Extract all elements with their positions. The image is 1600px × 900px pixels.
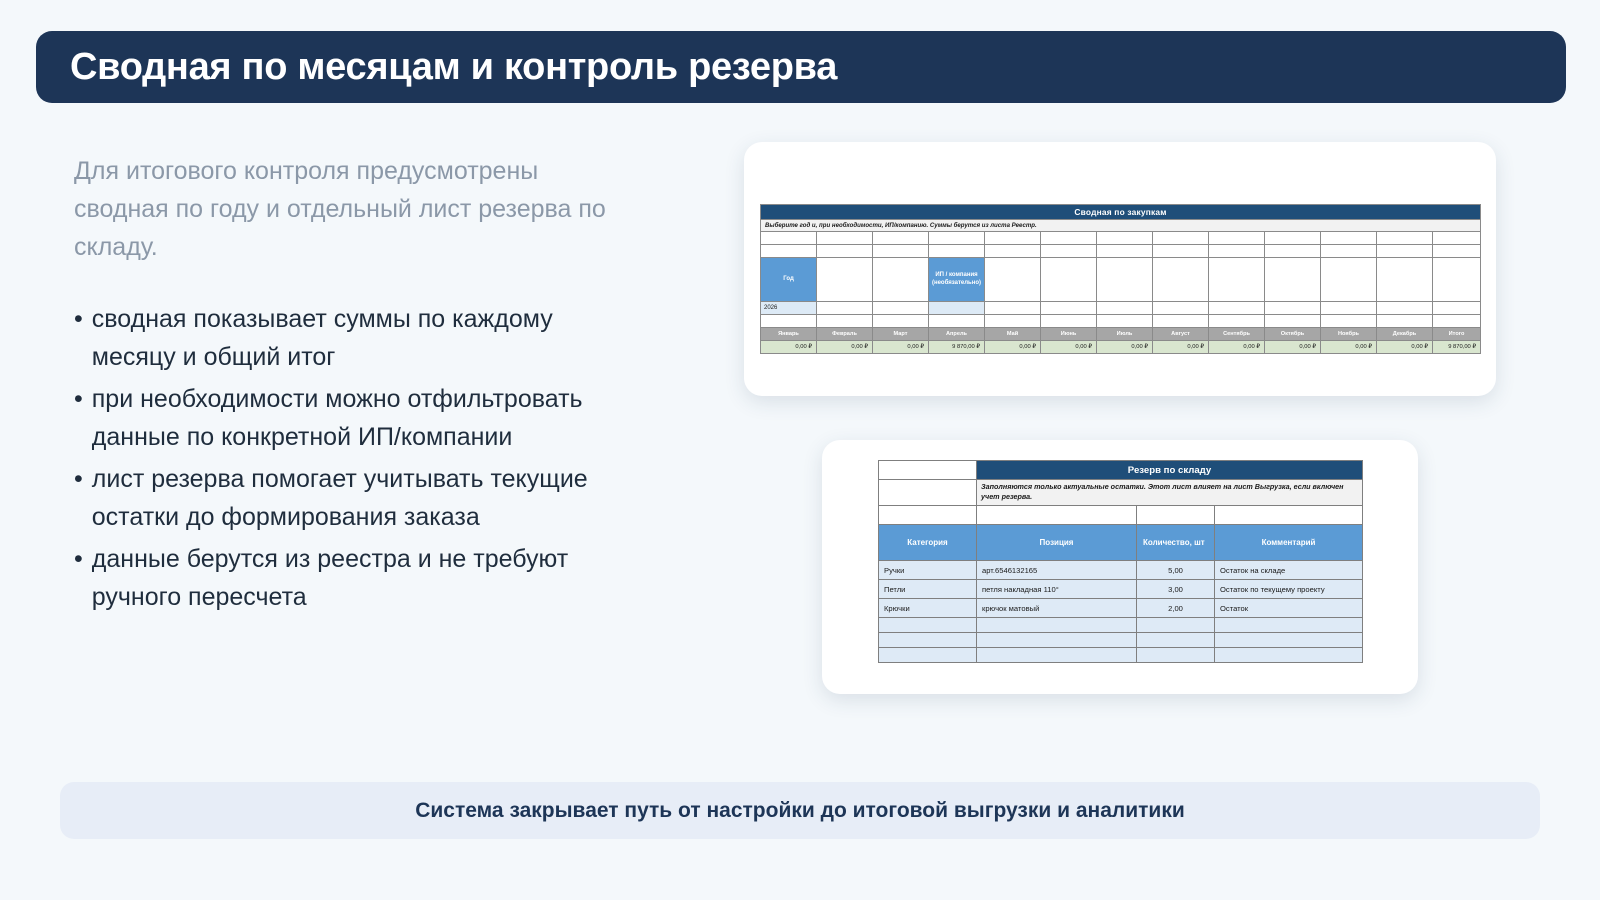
table-row: Выберите год и, при необходимости, ИП/ко… (761, 220, 1481, 232)
bullet-marker-icon: • (74, 300, 83, 376)
cell (1215, 648, 1363, 663)
table-row-header: Категория Позиция Количество, шт Коммент… (879, 525, 1363, 561)
cell (1321, 258, 1377, 302)
reserve-spreadsheet: Резерв по складу Заполняются только акту… (878, 460, 1363, 663)
cell (1321, 302, 1377, 315)
cell (1377, 315, 1433, 328)
table-row-empty (879, 648, 1363, 663)
title-bar: Сводная по месяцам и контроль резерва (36, 31, 1566, 103)
cell (1209, 232, 1265, 245)
month-value: 0,00 ₽ (1209, 341, 1265, 354)
column-header-category: Категория (879, 525, 977, 561)
cell (1209, 258, 1265, 302)
reserve-screenshot-card: Резерв по складу Заполняются только акту… (822, 440, 1418, 694)
cell (1321, 315, 1377, 328)
cell-category: Петли (879, 580, 977, 599)
month-header: Апрель (929, 328, 985, 341)
cell (977, 648, 1137, 663)
cell-quantity: 2,00 (1137, 599, 1215, 618)
cell (929, 245, 985, 258)
list-item: • сводная показывает суммы по каждому ме… (74, 300, 634, 376)
cell (1265, 245, 1321, 258)
list-item-label: лист резерва помогает учитывать текущие … (92, 460, 634, 536)
left-content-column: Для итогового контроля предусмотрены сво… (74, 152, 674, 620)
bullet-marker-icon: • (74, 380, 83, 456)
month-value: 0,00 ₽ (1097, 341, 1153, 354)
footer-label: Система закрывает путь от настройки до и… (415, 799, 1185, 823)
cell (1097, 315, 1153, 328)
column-header-quantity: Количество, шт (1137, 525, 1215, 561)
cell (873, 245, 929, 258)
cell (1433, 245, 1481, 258)
reserve-sheet-title: Резерв по складу (977, 461, 1363, 480)
cell (1041, 245, 1097, 258)
bullet-list: • сводная показывает суммы по каждому ме… (74, 300, 674, 616)
cell (1215, 506, 1363, 525)
cell (1215, 618, 1363, 633)
bullet-marker-icon: • (74, 460, 83, 536)
cell (1137, 633, 1215, 648)
cell (1265, 258, 1321, 302)
cell (1097, 302, 1153, 315)
cell (1041, 232, 1097, 245)
month-value: 0,00 ₽ (817, 341, 873, 354)
month-value: 0,00 ₽ (1377, 341, 1433, 354)
month-value: 0,00 ₽ (1321, 341, 1377, 354)
table-row (761, 232, 1481, 245)
cell (873, 258, 929, 302)
cell (985, 245, 1041, 258)
table-row: Резерв по складу (879, 461, 1363, 480)
cell (1153, 315, 1209, 328)
footer-banner: Система закрывает путь от настройки до и… (60, 782, 1540, 839)
cell (1153, 302, 1209, 315)
company-input[interactable] (929, 302, 985, 315)
cell (761, 315, 817, 328)
cell (1137, 618, 1215, 633)
cell (879, 506, 977, 525)
reserve-sheet-note: Заполняются только актуальные остатки. Э… (977, 480, 1363, 506)
cell (1377, 245, 1433, 258)
summary-sheet-note: Выберите год и, при необходимости, ИП/ко… (761, 220, 1481, 232)
cell (1041, 258, 1097, 302)
cell (873, 315, 929, 328)
cell-quantity: 3,00 (1137, 580, 1215, 599)
cell (1209, 245, 1265, 258)
cell (1097, 245, 1153, 258)
cell (985, 232, 1041, 245)
cell (977, 633, 1137, 648)
cell (1097, 258, 1153, 302)
cell-category: Ручки (879, 561, 977, 580)
table-row: Заполняются только актуальные остатки. Э… (879, 480, 1363, 506)
cell (879, 648, 977, 663)
month-value: 0,00 ₽ (1265, 341, 1321, 354)
table-row: Крючки крючок матовый 2,00 Остаток (879, 599, 1363, 618)
bullet-marker-icon: • (74, 540, 83, 616)
cell (873, 302, 929, 315)
list-item-label: данные берутся из реестра и не требуют р… (92, 540, 634, 616)
month-value: 9 870,00 ₽ (929, 341, 985, 354)
cell-position: арт.6546132165 (977, 561, 1137, 580)
cell-quantity: 5,00 (1137, 561, 1215, 580)
cell (1153, 245, 1209, 258)
table-row-month-values: 0,00 ₽ 0,00 ₽ 0,00 ₽ 9 870,00 ₽ 0,00 ₽ 0… (761, 341, 1481, 354)
summary-screenshot-card: Сводная по закупкам Выберите год и, при … (744, 142, 1496, 396)
cell (879, 633, 977, 648)
month-header: Ноябрь (1321, 328, 1377, 341)
cell-comment: Остаток (1215, 599, 1363, 618)
table-row (761, 315, 1481, 328)
cell (817, 232, 873, 245)
cell (873, 232, 929, 245)
table-row: Петли петля накладная 110° 3,00 Остаток … (879, 580, 1363, 599)
month-header: Август (1153, 328, 1209, 341)
year-header: Год (761, 258, 817, 302)
cell (1265, 315, 1321, 328)
total-header: Итого (1433, 328, 1481, 341)
cell-comment: Остаток по текущему проекту (1215, 580, 1363, 599)
cell (1433, 302, 1481, 315)
cell (1321, 232, 1377, 245)
cell (1377, 232, 1433, 245)
summary-spreadsheet: Сводная по закупкам Выберите год и, при … (760, 204, 1481, 354)
slide-root: Сводная по месяцам и контроль резерва Дл… (0, 0, 1600, 900)
list-item: • при необходимости можно отфильтровать … (74, 380, 634, 456)
table-row (879, 506, 1363, 525)
cell (879, 480, 977, 506)
month-header: Май (985, 328, 1041, 341)
cell (879, 461, 977, 480)
list-item: • лист резерва помогает учитывать текущи… (74, 460, 634, 536)
cell (817, 245, 873, 258)
column-header-position: Позиция (977, 525, 1137, 561)
cell (1215, 633, 1363, 648)
list-item-label: при необходимости можно отфильтровать да… (92, 380, 634, 456)
total-value: 9 870,00 ₽ (1433, 341, 1481, 354)
table-row: Ручки арт.6546132165 5,00 Остаток на скл… (879, 561, 1363, 580)
cell (1209, 302, 1265, 315)
cell (1209, 315, 1265, 328)
intro-paragraph: Для итогового контроля предусмотрены сво… (74, 152, 634, 266)
cell (817, 302, 873, 315)
month-value: 0,00 ₽ (1041, 341, 1097, 354)
list-item-label: сводная показывает суммы по каждому меся… (92, 300, 634, 376)
company-header: ИП / компания (необязательно) (929, 258, 985, 302)
table-row: Сводная по закупкам (761, 205, 1481, 220)
cell-category: Крючки (879, 599, 977, 618)
month-header: Октябрь (1265, 328, 1321, 341)
cell-position: петля накладная 110° (977, 580, 1137, 599)
cell (1041, 302, 1097, 315)
cell (1433, 315, 1481, 328)
table-row (761, 245, 1481, 258)
page-title: Сводная по месяцам и контроль резерва (36, 46, 837, 89)
month-header: Декабрь (1377, 328, 1433, 341)
cell (1433, 232, 1481, 245)
cell (929, 315, 985, 328)
month-header: Март (873, 328, 929, 341)
table-row-month-headers: Январь Февраль Март Апрель Май Июнь Июль… (761, 328, 1481, 341)
cell (1265, 302, 1321, 315)
cell (1265, 232, 1321, 245)
cell (1137, 648, 1215, 663)
list-item: • данные берутся из реестра и не требуют… (74, 540, 634, 616)
table-row-empty (879, 618, 1363, 633)
table-row-filters: Год ИП / компания (необязательно) (761, 258, 1481, 302)
summary-sheet-title: Сводная по закупкам (761, 205, 1481, 220)
cell (1137, 506, 1215, 525)
table-row-filter-values: 2026 (761, 302, 1481, 315)
cell (761, 232, 817, 245)
month-header: Июль (1097, 328, 1153, 341)
cell (817, 315, 873, 328)
table-row-empty (879, 633, 1363, 648)
month-header: Февраль (817, 328, 873, 341)
cell (879, 618, 977, 633)
year-input[interactable]: 2026 (761, 302, 817, 315)
cell (977, 618, 1137, 633)
cell (929, 232, 985, 245)
cell (761, 245, 817, 258)
cell-position: крючок матовый (977, 599, 1137, 618)
cell (1041, 315, 1097, 328)
cell (1321, 245, 1377, 258)
month-header: Январь (761, 328, 817, 341)
cell (985, 315, 1041, 328)
month-header: Июнь (1041, 328, 1097, 341)
month-value: 0,00 ₽ (761, 341, 817, 354)
month-value: 0,00 ₽ (985, 341, 1041, 354)
month-value: 0,00 ₽ (1153, 341, 1209, 354)
cell (1153, 258, 1209, 302)
cell (1377, 302, 1433, 315)
cell (985, 258, 1041, 302)
month-header: Сентябрь (1209, 328, 1265, 341)
cell (1377, 258, 1433, 302)
cell (985, 302, 1041, 315)
cell (1433, 258, 1481, 302)
month-value: 0,00 ₽ (873, 341, 929, 354)
cell (977, 506, 1137, 525)
cell-comment: Остаток на складе (1215, 561, 1363, 580)
cell (1097, 232, 1153, 245)
column-header-comment: Комментарий (1215, 525, 1363, 561)
cell (1153, 232, 1209, 245)
cell (817, 258, 873, 302)
